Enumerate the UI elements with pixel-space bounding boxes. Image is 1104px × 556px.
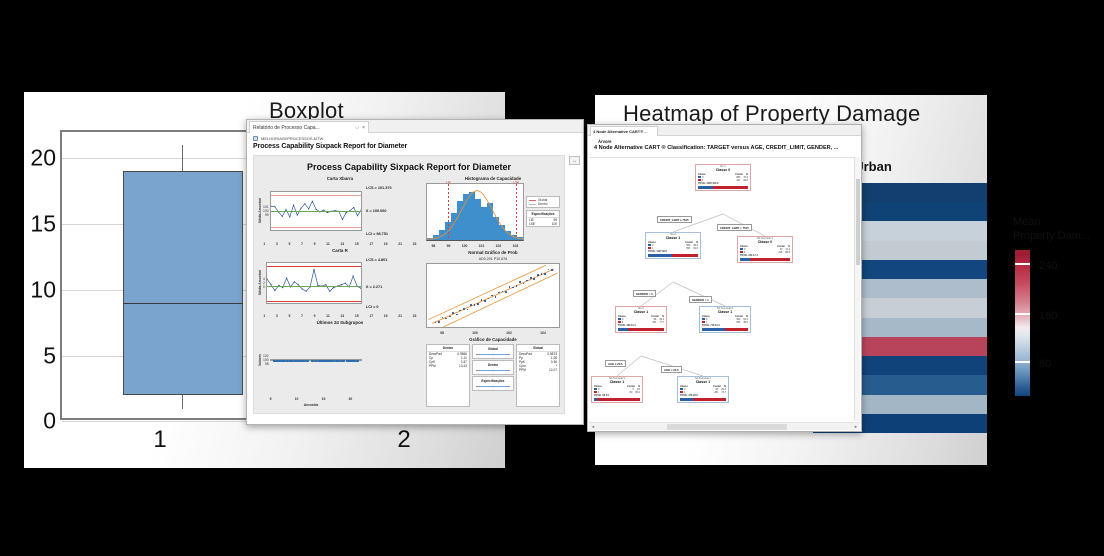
scatter-point xyxy=(331,360,333,362)
cart-split-label: AGE > 25.5 xyxy=(661,366,682,373)
x-tick: 3 xyxy=(276,242,278,246)
expand-icon[interactable]: ↔ xyxy=(569,156,580,165)
cart-split-label: AGE ≤ 25.5 xyxy=(605,360,626,367)
x-tick: 9 xyxy=(314,314,316,318)
rchart-lcl-label: LCI = 0 xyxy=(366,305,379,309)
x-tick: 15 xyxy=(322,397,326,401)
cart-subheading: Árvore xyxy=(588,136,861,145)
cart-split-label: GENDER = 0 xyxy=(633,290,656,297)
cart-node[interactable]: Nó 1Classe 0ClasseContar%098370.2141729.… xyxy=(695,164,751,191)
x-tick: 23 xyxy=(413,314,417,318)
table-row: PPM12.07 xyxy=(517,368,559,372)
cart-node-total: TOTAL 243 17.4 xyxy=(740,254,790,257)
scatter-point xyxy=(305,360,307,362)
r-chart: Média Amostral 4 2 0 xyxy=(258,255,422,311)
scatter-point xyxy=(291,360,293,362)
x-tick: 99 xyxy=(447,244,451,248)
x-tick: 102 xyxy=(496,244,502,248)
legend-title: Mean Property Dam... xyxy=(1013,216,1103,244)
cart-node-bar xyxy=(740,258,790,261)
lastsub-title: Últimos 24 Subgrupos xyxy=(258,320,422,325)
minitab-tab[interactable]: Relatório de Processo Capa... ⌵ × xyxy=(249,121,369,133)
scatter-point xyxy=(313,360,315,362)
median-line xyxy=(123,303,243,304)
minitab-report-canvas: Process Capability Sixpack Report for Di… xyxy=(253,155,565,414)
lastsub-y-label: Valores xyxy=(258,354,262,366)
legend-colorbar-wrap: 240 160 80 xyxy=(1013,250,1104,396)
boxplot-category-1: 1 xyxy=(120,426,200,454)
hist-legend: Global Dentro xyxy=(526,196,560,208)
x-tick: 102 xyxy=(506,331,512,335)
x-tick: 17 xyxy=(369,314,373,318)
x-tick: 20 xyxy=(349,397,353,401)
npp-point xyxy=(477,303,479,305)
x-tick: 101 xyxy=(479,244,485,248)
boxplot-plot-area: 20 15 10 5 0 xyxy=(60,130,256,420)
whisker-lower xyxy=(182,395,183,409)
rchart-y-label: Média Amostral xyxy=(258,270,262,295)
boxplot-category-2: 2 xyxy=(364,426,444,454)
cart-window[interactable]: 4 Node Alternative CART® ... Árvore 4 No… xyxy=(587,124,862,432)
scatter-point xyxy=(294,360,296,362)
hist-spec-lse-value: 100 xyxy=(552,222,557,226)
x-tick: 98 xyxy=(440,331,444,335)
legend-tick-160: 160 xyxy=(1039,310,1057,322)
x-tick: 21 xyxy=(398,242,402,246)
table-cell-label: PPM xyxy=(519,368,526,372)
legend-tick-240: 240 xyxy=(1039,260,1057,272)
rchart-series xyxy=(267,263,361,301)
y-tick-20: 20 xyxy=(30,145,56,172)
gridline-0: 0 xyxy=(62,421,254,422)
minitab-report-title: Process Capability Sixpack Report for Di… xyxy=(258,162,560,172)
scroll-right-icon[interactable]: ► xyxy=(852,424,860,429)
x-tick: 11 xyxy=(326,314,330,318)
xbar-lcl-label: LCI = 98.751 xyxy=(366,232,388,236)
x-tick: 19 xyxy=(384,242,388,246)
x-tick: 15 xyxy=(355,314,359,318)
x-tick: 103 xyxy=(513,244,519,248)
scatter-point xyxy=(276,360,278,362)
x-tick: 5 xyxy=(288,242,290,246)
legend-notch-240 xyxy=(1015,263,1030,265)
hist-normal-curve xyxy=(427,184,523,240)
npp-point xyxy=(456,314,458,316)
y-tick-5: 5 xyxy=(43,343,56,370)
xbar-plot-area xyxy=(270,191,362,231)
cart-node-total: TOTAL 439 31.4 xyxy=(618,324,664,327)
rchart-center-line xyxy=(267,286,361,287)
minitab-tab-strip: Relatório de Processo Capa... ⌵ × xyxy=(247,120,583,133)
cart-node-bar xyxy=(618,328,664,331)
hist-legend-within: Dentro xyxy=(538,202,548,206)
table-cell-label: PPM xyxy=(429,364,436,368)
worksheet-icon xyxy=(253,136,258,141)
xbar-y-label: Média Amostral xyxy=(258,198,262,223)
x-tick: 104 xyxy=(540,331,546,335)
cart-node-total: TOTAL 1400 100.0 xyxy=(698,182,748,185)
hist-spec-title: Especificações xyxy=(527,211,559,218)
capability-strip-global: Global + + + xyxy=(472,344,514,359)
scatter-point xyxy=(299,360,301,362)
rchart-ucl-label: LCS = 4.801 xyxy=(366,258,387,262)
capability-within-header: Dentro xyxy=(427,345,469,352)
scatter-point xyxy=(302,360,304,362)
scatter-point xyxy=(274,360,276,362)
minitab-tab-label: Relatório de Processo Capa... xyxy=(253,125,352,131)
lastsub-x-ticks: 5101520 xyxy=(258,396,422,401)
cart-node-bar xyxy=(594,398,640,401)
legend-tick-80: 80 xyxy=(1039,358,1051,370)
xbar-x-ticks: 1357911131517192123 xyxy=(258,241,422,246)
cart-node[interactable]: Nó 2Classe 1ClasseContar%056048.4159751.… xyxy=(645,232,701,259)
legend-swatch-within xyxy=(529,204,536,205)
heatmap-legend: Mean Property Dam... 240 160 80 xyxy=(1013,216,1104,396)
npp-point xyxy=(474,304,476,306)
minimize-icon[interactable]: ⌵ xyxy=(355,125,359,131)
npp-point xyxy=(544,273,546,275)
y-tick-0: 0 xyxy=(43,408,56,435)
npp-point xyxy=(481,299,483,301)
cart-split-label: GENDER = 1 xyxy=(689,296,712,303)
cart-split-label: CREDIT_LIMIT ≤ 7545 xyxy=(657,216,692,223)
whisker-upper xyxy=(182,145,183,171)
npp-point xyxy=(551,269,553,271)
x-tick: 1 xyxy=(263,242,265,246)
capability-overall-table: Global DesvPad0.9873Pp1.08PpK0.36Cpm*PPM… xyxy=(516,344,560,407)
cart-vertical-scrollbar[interactable] xyxy=(854,157,860,421)
rchart-annotations: LCS = 4.801 X = 2.271 LCI = 0 xyxy=(364,255,422,311)
x-tick: 17 xyxy=(369,242,373,246)
cart-node-total: TOTAL 1157 82.6 xyxy=(648,250,698,253)
y-tick-10: 10 xyxy=(30,277,56,304)
legend-swatch-global xyxy=(529,200,536,201)
x-tick: 11 xyxy=(326,242,330,246)
capability-strips: Global + + + Dentro xyxy=(472,344,514,407)
x-tick: 5 xyxy=(270,397,272,401)
x-tick: 5 xyxy=(288,314,290,318)
cart-node-bar xyxy=(648,254,698,257)
close-icon[interactable]: × xyxy=(362,125,365,131)
y-tick-15: 15 xyxy=(30,211,56,238)
cart-tree-canvas: Nó 1Classe 0ClasseContar%098370.2141729.… xyxy=(589,157,854,421)
legend-notch-80 xyxy=(1015,361,1030,363)
xbar-chart-title: Carta Xbarra xyxy=(258,176,422,181)
xbar-ytick-2: 99 xyxy=(263,213,269,217)
rchart-plot-area xyxy=(266,262,362,304)
box xyxy=(123,171,243,395)
npp-point xyxy=(470,304,472,306)
npp-x-ticks: 98100102104 xyxy=(426,330,560,335)
npp-point xyxy=(438,321,440,323)
xbar-ucl-label: LCS = 101.370 xyxy=(366,186,392,190)
npp-point xyxy=(537,274,539,276)
x-tick: 1 xyxy=(263,314,265,318)
cart-node-total: TOTAL 376 26.9 xyxy=(680,394,726,397)
cart-node-bar xyxy=(702,328,748,331)
cart-node-bar xyxy=(698,186,748,189)
capability-within-table: Dentro DesvPad0.9566Cp1.11CpK0.37PPM13.4… xyxy=(426,344,470,407)
scatter-point xyxy=(283,360,285,362)
hist-plot-area: LIE LSE xyxy=(426,183,524,241)
scatter-point xyxy=(343,360,345,362)
scatter-point xyxy=(296,360,298,362)
xbar-ucl-line xyxy=(271,195,361,196)
npp-title: Normal Gráfico de Prob xyxy=(426,250,560,255)
cart-node-bar xyxy=(680,398,726,401)
cart-horizontal-scroll-thumb[interactable] xyxy=(667,424,787,430)
xbar-annotations: LCS = 101.370 X = 100.060 LCI = 98.751 xyxy=(364,183,422,239)
legend-notch-160 xyxy=(1015,313,1030,315)
x-tick: 7 xyxy=(301,314,303,318)
npp-point xyxy=(449,316,451,318)
x-tick: 19 xyxy=(384,314,388,318)
xbar-center-label: X = 100.060 xyxy=(366,209,387,213)
minitab-file-name: MELHORIASEPROCESSOS.MTW xyxy=(261,136,323,141)
minitab-file-line: MELHORIASEPROCESSOS.MTW xyxy=(247,133,583,142)
capability-strip-within: Dentro + + + xyxy=(472,360,514,375)
x-tick: 100 xyxy=(472,331,478,335)
x-tick: 100 xyxy=(462,244,468,248)
minitab-output-heading: Process Capability Sixpack Report for Di… xyxy=(247,142,583,153)
x-tick: 3 xyxy=(276,314,278,318)
capability-title: Gráfico de Capacidade xyxy=(426,337,560,342)
scatter-point xyxy=(350,360,352,362)
cart-node[interactable]: Nó 3Classe 1ClasseContar%09822.3134177.7… xyxy=(615,306,667,333)
x-tick: 10 xyxy=(295,397,299,401)
npp-point xyxy=(519,281,521,283)
capability-strip-spec: Especificações + + + xyxy=(472,376,514,391)
cart-horizontal-scrollbar[interactable]: ◄ ► xyxy=(589,422,860,430)
legend-colorbar xyxy=(1015,250,1030,396)
rchart-ytick-2: 0 xyxy=(263,285,265,289)
scatter-point xyxy=(348,360,350,362)
scatter-point xyxy=(338,360,340,362)
xbar-lcl-line xyxy=(271,227,361,228)
cart-vertical-scroll-thumb[interactable] xyxy=(856,179,860,265)
npp-point xyxy=(452,312,454,314)
hist-spec-table: Especificações LIE 99 LSE 100 xyxy=(526,210,560,227)
npp-point xyxy=(463,308,465,310)
cart-tab-strip: 4 Node Alternative CART® ... xyxy=(588,125,861,136)
scatter-point xyxy=(357,360,359,362)
hist-spec-lse-label: LSE xyxy=(529,222,535,226)
scroll-left-icon[interactable]: ◄ xyxy=(589,424,597,429)
gridline-20: 20 xyxy=(62,158,254,159)
cart-node-total: TOTAL 718 51.3 xyxy=(702,324,748,327)
minitab-window[interactable]: Relatório de Processo Capa... ⌵ × MELHOR… xyxy=(246,119,584,425)
rchart-ucl-line xyxy=(267,266,361,267)
scatter-point xyxy=(311,360,313,362)
scatter-point xyxy=(341,360,343,362)
hist-x-ticks: 9899100101102103 xyxy=(426,243,560,248)
table-cell-value: 13.43 xyxy=(459,364,467,368)
lastsub-ytick-2: 98 xyxy=(263,362,269,366)
cart-tab[interactable]: 4 Node Alternative CART® ... xyxy=(590,126,658,136)
cart-node[interactable]: Nó Terminal 1Classe 0ClasseContar%02711.… xyxy=(737,236,793,263)
screenshot-stage: Boxplot 20 15 10 5 0 1 2 xyxy=(0,0,1104,556)
rchart-center-label: X = 2.271 xyxy=(366,285,382,289)
npp-point xyxy=(533,278,535,280)
cart-title: 4 Node Alternative CART ® Classification… xyxy=(588,145,861,154)
lastsub-plot-area xyxy=(270,359,362,361)
npp-point xyxy=(484,300,486,302)
x-tick: 15 xyxy=(355,242,359,246)
cart-node[interactable]: Nó Terminal 2Classe 1ClasseContar%046264… xyxy=(699,306,751,333)
x-tick: 13 xyxy=(340,242,344,246)
cart-split-label: CREDIT_LIMIT > 7545 xyxy=(717,224,752,231)
lastsub-x-label: Amostra xyxy=(258,403,422,407)
xbar-center-line xyxy=(271,211,361,212)
xbar-chart: Média Amostral 101 100 99 xyxy=(258,183,422,239)
x-tick: 98 xyxy=(432,244,436,248)
lastsub-chart: Valores 102 100 98 xyxy=(258,327,422,394)
x-tick: 13 xyxy=(340,314,344,318)
rchart-title: Carta R xyxy=(258,248,422,253)
npp-subtitle: AD0.201 P10.878 xyxy=(426,257,560,261)
rchart-lcl-line xyxy=(267,301,361,302)
cart-node-total: TOTAL 63 4.5 xyxy=(594,394,640,397)
table-row: PPM13.43 xyxy=(427,364,469,368)
cart-node[interactable]: Nó Terminal 3Classe 1ClasseContar%034.81… xyxy=(591,376,643,403)
npp-point xyxy=(541,273,543,275)
capability-overall-header: Global xyxy=(517,345,559,352)
scatter-point xyxy=(287,360,289,362)
cart-node[interactable]: Nó Terminal 4Classe 1ClasseContar%09525.… xyxy=(677,376,729,403)
npp-point xyxy=(530,277,532,279)
xbar-series xyxy=(271,192,361,228)
x-tick: 23 xyxy=(413,242,417,246)
x-tick: 7 xyxy=(301,242,303,246)
x-tick: 9 xyxy=(314,242,316,246)
npp-point xyxy=(491,295,493,297)
x-tick: 21 xyxy=(398,314,402,318)
npp-plot-area xyxy=(426,263,560,328)
npp-point xyxy=(505,291,507,293)
table-cell-value: 12.07 xyxy=(549,368,557,372)
rchart-x-ticks: 1357911131517192123 xyxy=(258,313,422,318)
